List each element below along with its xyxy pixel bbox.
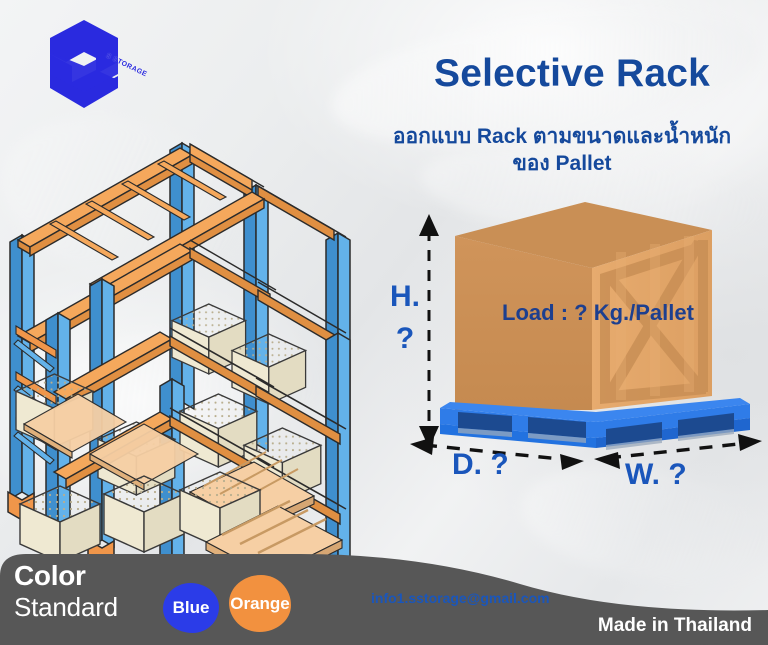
poster-canvas: S STORAGE Selective Rack ออกแบบ Rack ตาม… bbox=[0, 0, 768, 645]
color-standard-heading: Color Standard bbox=[14, 562, 118, 620]
color-swatch-orange[interactable]: Orange bbox=[229, 575, 291, 632]
standard-heading-text: Standard bbox=[14, 594, 118, 620]
page-title: Selective Rack bbox=[392, 52, 752, 96]
color-swatch-blue[interactable]: Blue bbox=[163, 583, 219, 633]
width-dimension-label: W. ? bbox=[625, 458, 687, 492]
selective-rack-icon bbox=[0, 72, 366, 572]
load-capacity-label: Load : ? Kg./Pallet bbox=[448, 300, 748, 326]
made-in-label: Made in Thailand bbox=[430, 615, 752, 637]
color-heading-text: Color bbox=[14, 560, 86, 591]
contact-email[interactable]: info1.sstorage@gmail.com bbox=[371, 590, 550, 606]
depth-dimension-label: D. ? bbox=[452, 448, 509, 482]
subtitle-line-2: ของ Pallet bbox=[364, 151, 760, 178]
subtitle-line-1: ออกแบบ Rack ตามขนาดและน้ำหนัก bbox=[393, 125, 731, 148]
height-value: ? bbox=[382, 324, 428, 354]
height-dimension-label: H. ? bbox=[382, 282, 428, 354]
page-subtitle: ออกแบบ Rack ตามขนาดและน้ำหนัก ของ Pallet bbox=[364, 124, 760, 178]
height-label-text: H. bbox=[390, 280, 420, 313]
